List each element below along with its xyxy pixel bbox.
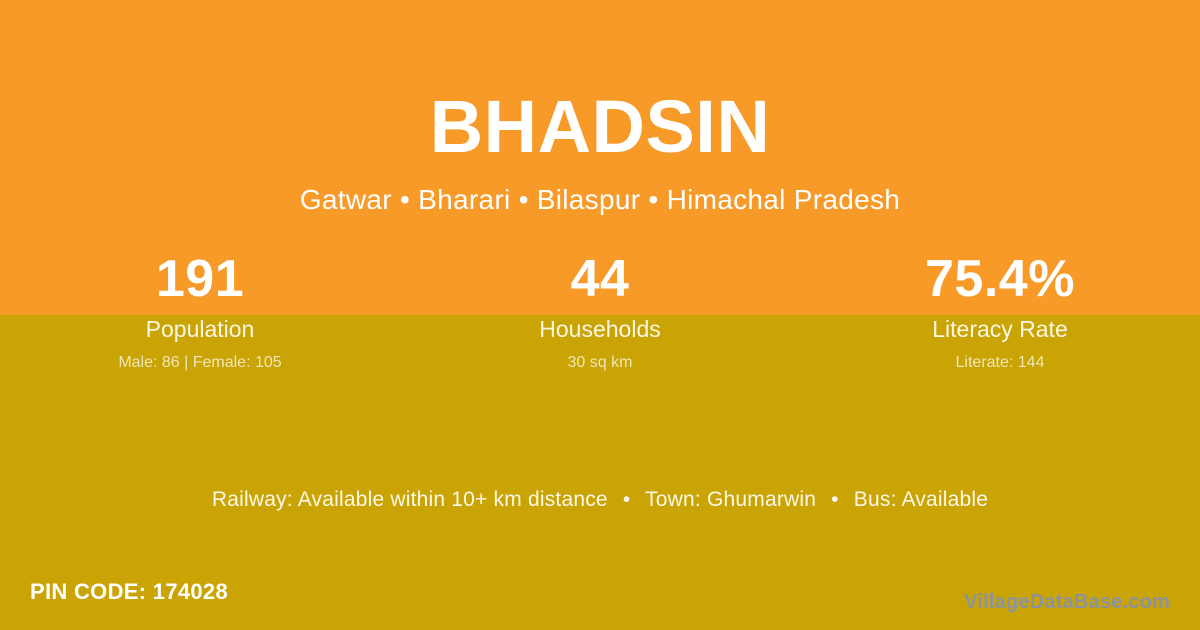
stat-households-label: Households — [400, 315, 800, 344]
info-item-town: Town: Ghumarwin — [645, 488, 816, 511]
stat-population-value: 191 — [0, 248, 400, 310]
stat-population: 191 Population Male: 86 | Female: 105 — [0, 248, 400, 373]
breadcrumb: Gatwar • Bharari • Bilaspur • Himachal P… — [0, 182, 1200, 218]
pin-code: PIN CODE: 174028 — [30, 577, 228, 607]
site-brand: VillageDataBase.com — [964, 589, 1170, 615]
stat-households-sub: 30 sq km — [400, 353, 800, 373]
stat-literacy-rate-value: 75.4% — [800, 248, 1200, 310]
stat-population-sub: Male: 86 | Female: 105 — [0, 353, 400, 373]
stat-households-value: 44 — [400, 248, 800, 310]
info-separator-2: • — [822, 486, 848, 514]
stat-literacy-rate-label: Literacy Rate — [800, 315, 1200, 344]
village-info-card: BHADSIN Gatwar • Bharari • Bilaspur • Hi… — [0, 0, 1200, 630]
stat-literacy-rate: 75.4% Literacy Rate Literate: 144 — [800, 248, 1200, 373]
info-item-railway: Railway: Available within 10+ km distanc… — [212, 488, 608, 511]
stat-households: 44 Households 30 sq km — [400, 248, 800, 373]
stat-population-label: Population — [0, 315, 400, 344]
amenities-info-line: Railway: Available within 10+ km distanc… — [0, 486, 1200, 514]
stats-row: 191 Population Male: 86 | Female: 105 44… — [0, 248, 1200, 373]
info-item-bus: Bus: Available — [854, 488, 988, 511]
info-separator-1: • — [614, 486, 640, 514]
stat-literacy-rate-sub: Literate: 144 — [800, 353, 1200, 373]
page-title: BHADSIN — [0, 80, 1200, 174]
